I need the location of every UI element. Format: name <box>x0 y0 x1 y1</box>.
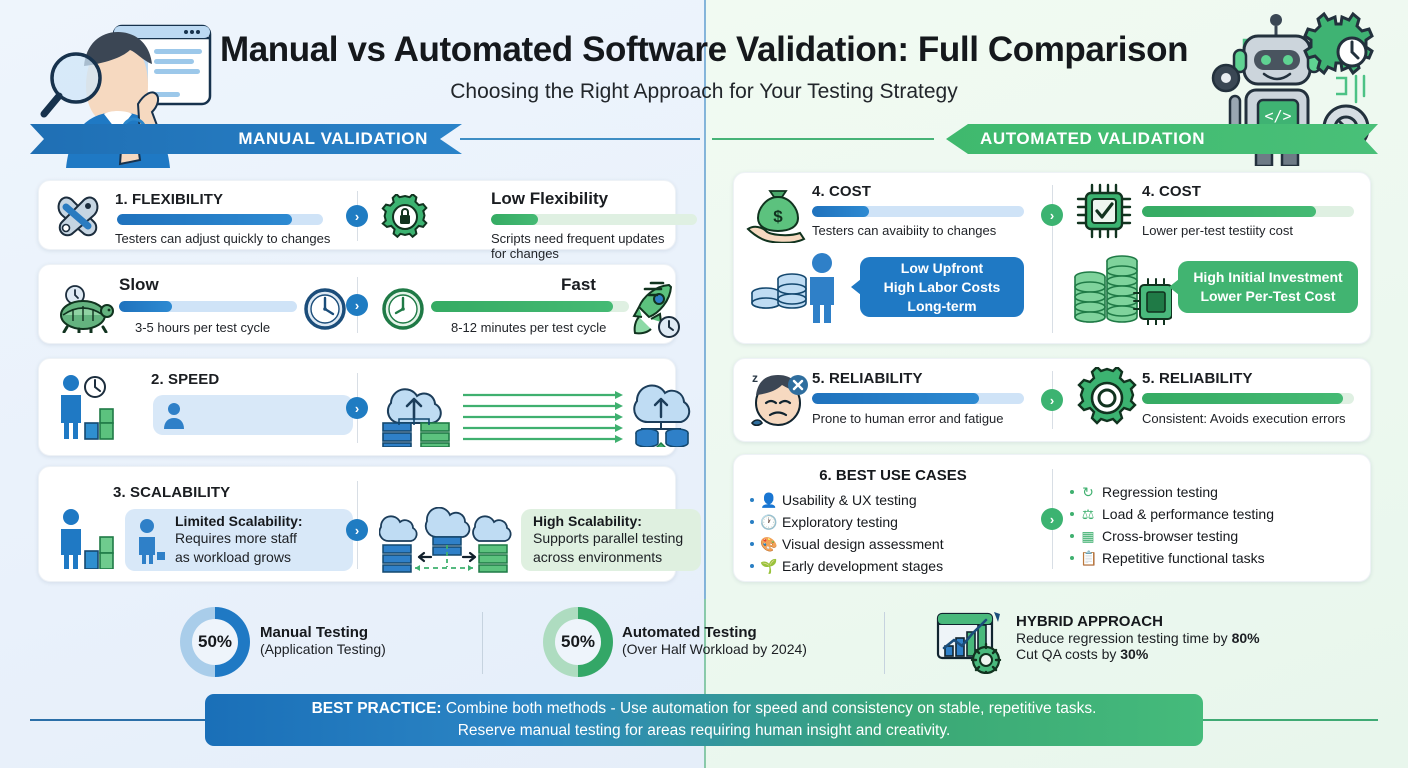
speed-manual-panel <box>153 395 353 435</box>
hybrid-line1: Reduce regression testing time by 80% <box>1016 630 1260 646</box>
stat-title: Manual Testing <box>260 624 386 641</box>
hybrid-line2-value: 30% <box>1120 646 1148 662</box>
donut-automated-value: 50% <box>555 619 601 665</box>
callout-line: Long-term <box>870 297 1014 316</box>
chevron-right-icon[interactable]: › <box>1041 389 1063 411</box>
ribbon-automated-validation: AUTOMATED VALIDATION <box>946 124 1378 154</box>
single-tester-icon <box>161 401 187 434</box>
callout-line: High Initial Investment <box>1188 268 1348 287</box>
cost-manual-callout: Low Upfront High Labor Costs Long-term <box>860 257 1024 317</box>
reliability-automated-caption: Consistent: Avoids execution errors <box>1142 411 1346 426</box>
bullet-dot <box>1070 490 1074 494</box>
list-item-label: Regression testing <box>1102 481 1218 503</box>
page-subtitle: Choosing the Right Approach for Your Tes… <box>0 80 1408 104</box>
callout-line: High Labor Costs <box>870 278 1014 297</box>
stat-automated-text: Automated Testing (Over Half Workload by… <box>622 624 807 657</box>
high-scalability-box: High Scalability: Supports parallel test… <box>521 509 701 571</box>
bullet-dot <box>750 520 754 524</box>
best-use-cases-automated-list: ↻ Regression testing ⚖ Load & performanc… <box>1070 481 1366 569</box>
flexibility-heading: 1. FLEXIBILITY <box>115 191 223 208</box>
donut-manual-share: 50% <box>180 607 250 677</box>
ribbon-rule-left <box>460 138 700 140</box>
best-use-cases-heading: 6. BEST USE CASES <box>734 467 1052 484</box>
chevron-right-icon[interactable]: › <box>346 294 368 316</box>
chevron-right-icon[interactable]: › <box>346 205 368 227</box>
bullet-dot <box>1070 512 1074 516</box>
bullet-dot <box>750 542 754 546</box>
limited-scalability-box: Limited Scalability: Requires more staff… <box>125 509 353 571</box>
list-item[interactable]: 🎨 Visual design assessment <box>750 533 1046 555</box>
stats-divider <box>884 612 885 674</box>
best-practice-rule-left <box>30 719 208 721</box>
refresh-icon: ↻ <box>1080 481 1096 503</box>
seedling-icon: 🌱 <box>760 555 776 577</box>
compass-icon: 🕐 <box>760 511 776 533</box>
reliability-manual-bar <box>812 393 1024 404</box>
card-speed-timing: Slow 3-5 hours per test cycle › Fast 8-1… <box>38 264 676 344</box>
speed-automated-bar <box>431 301 629 312</box>
list-item-label: Visual design assessment <box>782 533 944 555</box>
list-item-label: Exploratory testing <box>782 511 898 533</box>
stat-subtitle: (Over Half Workload by 2024) <box>622 641 807 657</box>
card-scalability: 3. SCALABILITY Limited S <box>38 466 676 582</box>
single-person-icon <box>135 518 165 569</box>
svg-text:z: z <box>752 371 758 385</box>
low-flexibility-heading: Low Flexibility <box>491 189 608 209</box>
chevron-right-icon[interactable]: › <box>346 397 368 419</box>
list-item-label: Cross-browser testing <box>1102 525 1238 547</box>
flexibility-manual-caption: Testers can adjust quickly to changes <box>115 231 330 246</box>
cost-manual-bar <box>812 206 1024 217</box>
limited-scalability-body: Requires more staff as workload grows <box>175 529 303 567</box>
list-item[interactable]: ⚖ Load & performance testing <box>1070 503 1366 525</box>
best-practice-line1-text: Combine both methods - Use automation fo… <box>442 700 1097 717</box>
speed-heading: 2. SPEED <box>151 371 219 388</box>
cost-automated-callout: High Initial Investment Lower Per-Test C… <box>1178 261 1358 313</box>
reliability-manual-caption: Prone to human error and fatigue <box>812 411 1004 426</box>
best-practice-label: BEST PRACTICE: <box>312 700 442 717</box>
person-clock-chart-icon <box>53 373 115 441</box>
list-item[interactable]: 📋 Repetitive functional tasks <box>1070 547 1366 569</box>
card-best-use-cases: 6. BEST USE CASES 👤 Usability & UX testi… <box>733 454 1371 582</box>
hybrid-line1-value: 80% <box>1232 630 1260 646</box>
donut-manual-value: 50% <box>192 619 238 665</box>
money-bag-hand-icon: $ <box>746 185 808 248</box>
tired-face-icon: z <box>746 369 810 436</box>
hybrid-line1-text: Reduce regression testing time by <box>1016 630 1232 646</box>
best-practice-banner: BEST PRACTICE: Combine both methods - Us… <box>205 694 1203 746</box>
cost-manual-caption: Testers can avaibiity to changes <box>812 223 996 238</box>
hybrid-line2-text: Cut QA costs by <box>1016 646 1120 662</box>
card-reliability: z 5. RELIABILITY Prone to human error an… <box>733 358 1371 442</box>
cloud-servers-parallel-icon <box>379 373 705 452</box>
growth-chart-gear-icon <box>936 608 1008 679</box>
chevron-right-icon[interactable]: › <box>1041 204 1063 226</box>
user-icon: 👤 <box>760 489 776 511</box>
fast-heading: Fast <box>561 275 596 295</box>
cost-automated-heading: 4. COST <box>1142 183 1201 200</box>
high-scalability-body: Supports parallel testing across environ… <box>533 529 683 567</box>
rocket-icon <box>625 281 681 344</box>
chip-check-icon <box>1076 183 1132 244</box>
list-item-label: Load & performance testing <box>1102 503 1274 525</box>
cost-automated-bar <box>1142 206 1354 217</box>
clock-green-icon <box>381 287 425 336</box>
list-item[interactable]: 👤 Usability & UX testing <box>750 489 1046 511</box>
chevron-right-icon[interactable]: › <box>346 519 368 541</box>
slow-heading: Slow <box>119 275 159 295</box>
stat-subtitle: (Application Testing) <box>260 641 386 657</box>
hybrid-title: HYBRID APPROACH <box>1016 613 1260 630</box>
hybrid-line2: Cut QA costs by 30% <box>1016 646 1260 662</box>
callout-line: Low Upfront <box>870 259 1014 278</box>
cost-manual-heading: 4. COST <box>812 183 871 200</box>
browser-icon: ▦ <box>1080 525 1096 547</box>
palette-icon: 🎨 <box>760 533 776 555</box>
card-cost: $ 4. COST Testers can avaibiity to chang… <box>733 172 1371 344</box>
wrench-screwdriver-icon <box>53 194 103 240</box>
bullet-dot <box>750 498 754 502</box>
weight-icon: ⚖ <box>1080 503 1096 525</box>
list-item-label: Usability & UX testing <box>782 489 917 511</box>
cloud-server-sync-icon <box>379 507 519 578</box>
card-flexibility: 1. FLEXIBILITY Testers can adjust quickl… <box>38 180 676 250</box>
best-practice-line2: Reserve manual testing for areas requiri… <box>458 720 951 742</box>
reliability-manual-heading: 5. RELIABILITY <box>812 370 923 387</box>
reliability-automated-bar <box>1142 393 1354 404</box>
reliability-automated-heading: 5. RELIABILITY <box>1142 370 1253 387</box>
list-item[interactable]: ▦ Cross-browser testing <box>1070 525 1366 547</box>
gear-ring-icon <box>1076 367 1138 434</box>
stat-manual-text: Manual Testing (Application Testing) <box>260 624 386 657</box>
chevron-right-icon[interactable]: › <box>1041 508 1063 530</box>
turtle-clock-icon <box>53 285 115 333</box>
high-scalability-title: High Scalability: <box>533 513 683 529</box>
clipboard-icon: 📋 <box>1080 547 1096 569</box>
list-item[interactable]: 🕐 Exploratory testing <box>750 511 1046 533</box>
ribbon-rule-right <box>712 138 934 140</box>
person-bar-chart-icon <box>53 507 115 569</box>
donut-automated-share: 50% <box>543 607 613 677</box>
limited-scalability-title: Limited Scalability: <box>175 513 303 529</box>
coin-stacks-chip-icon <box>1068 249 1172 330</box>
ribbon-manual-validation: MANUAL VALIDATION <box>30 124 462 154</box>
svg-text:$: $ <box>773 207 783 226</box>
list-item-label: Early development stages <box>782 555 943 577</box>
best-practice-line1: BEST PRACTICE: Combine both methods - Us… <box>312 698 1097 720</box>
flexibility-manual-bar <box>117 214 323 225</box>
card-speed: 2. SPEED › <box>38 358 676 456</box>
stats-divider <box>482 612 483 674</box>
speed-automated-caption: 8-12 minutes per test cycle <box>451 320 606 335</box>
bullet-dot <box>1070 534 1074 538</box>
gear-lock-icon <box>381 194 429 240</box>
hybrid-approach-text: HYBRID APPROACH Reduce regression testin… <box>1016 613 1260 662</box>
list-item-label: Repetitive functional tasks <box>1102 547 1265 569</box>
stat-title: Automated Testing <box>622 624 807 641</box>
bullet-dot <box>1070 556 1074 560</box>
speed-manual-bar <box>119 301 297 312</box>
scalability-heading: 3. SCALABILITY <box>113 484 230 501</box>
bullet-dot <box>750 564 754 568</box>
list-item[interactable]: ↻ Regression testing <box>1070 481 1366 503</box>
svg-text:</>: </> <box>1264 107 1291 125</box>
list-item[interactable]: 🌱 Early development stages <box>750 555 1046 577</box>
speed-manual-caption: 3-5 hours per test cycle <box>135 320 270 335</box>
clock-icon <box>303 287 347 336</box>
cost-automated-caption: Lower per-test testiity cost <box>1142 223 1293 238</box>
flexibility-automated-bar <box>491 214 697 225</box>
coins-person-icon <box>748 251 848 328</box>
flexibility-automated-caption: Scripts need frequent updates for change… <box>491 231 675 261</box>
page-title: Manual vs Automated Software Validation:… <box>0 30 1408 70</box>
callout-line: Lower Per-Test Cost <box>1188 287 1348 306</box>
best-practice-rule-right <box>1200 719 1378 721</box>
best-use-cases-manual-list: 👤 Usability & UX testing 🕐 Exploratory t… <box>750 489 1046 577</box>
